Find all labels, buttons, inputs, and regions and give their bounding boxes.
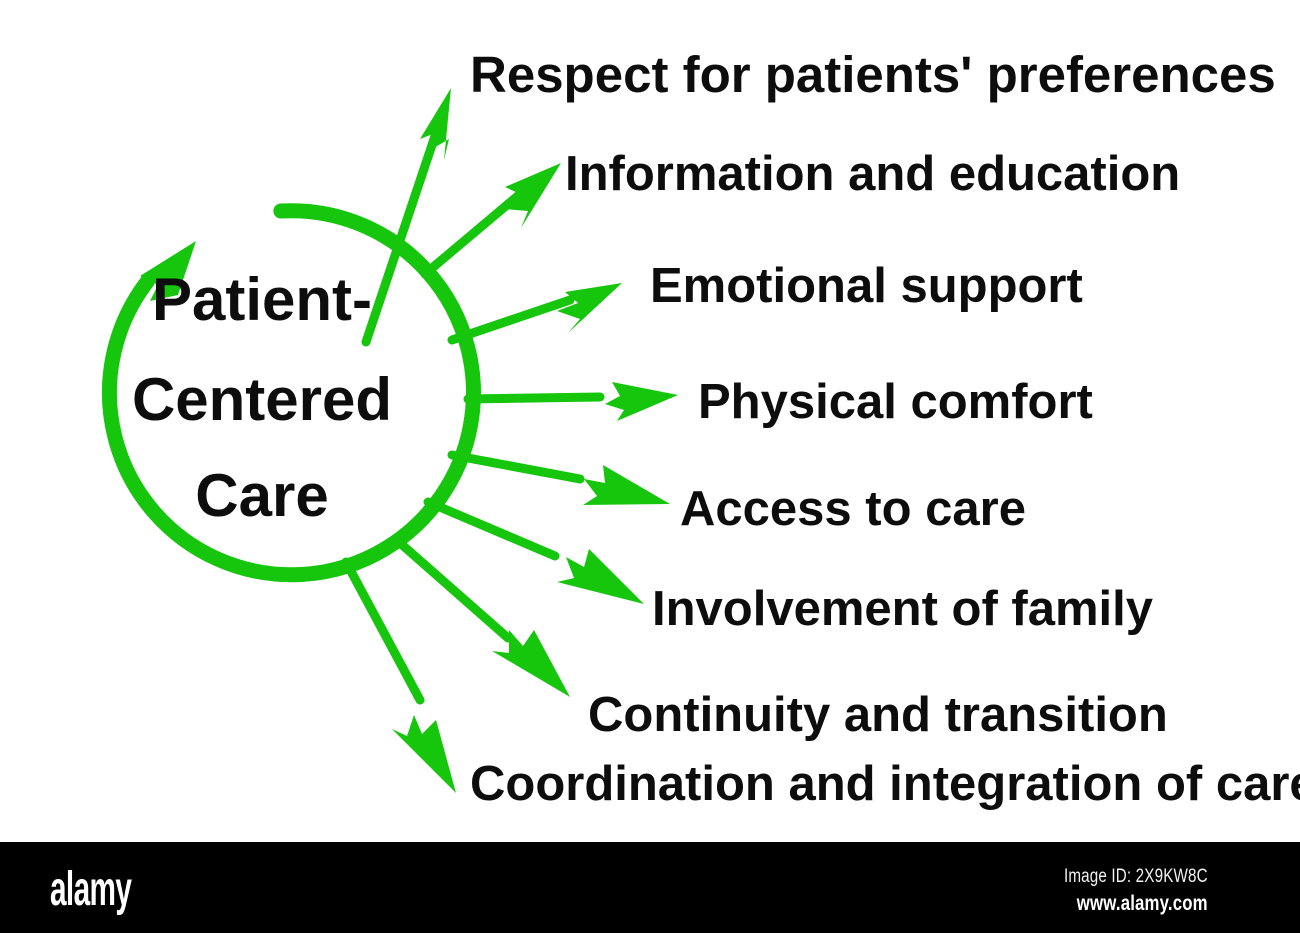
spoke-label-continuity: Continuity and transition [588,688,1168,742]
arrow-family [428,502,644,604]
arrow-emotional [452,283,622,340]
spoke-label-information: Information and education [565,147,1180,201]
footer-meta: Image ID: 2X9KW8C www.alamy.com [1028,864,1208,918]
arrow-respect [366,88,451,342]
diagram-canvas: Patient- Centered Care [0,0,1300,933]
arrow-physical [468,382,678,421]
arrow-coordination [346,562,456,793]
center-label-line-2: Centered [132,366,392,433]
arrow-continuity [400,543,570,697]
arrow-information [425,163,561,274]
center-label-line-1: Patient- [152,266,372,333]
arrow-access [452,455,670,505]
spoke-label-family: Involvement of family [652,582,1153,636]
spoke-label-coordination: Coordination and integration of care [470,757,1300,811]
center-label-line-3: Care [195,462,328,529]
spoke-label-emotional: Emotional support [650,259,1083,313]
alamy-url-text: www.alamy.com [1064,890,1208,918]
image-id-text: Image ID: 2X9KW8C [1064,864,1208,890]
spoke-label-respect: Respect for patients' preferences [470,46,1276,103]
watermark-footer: alamy Image ID: 2X9KW8C www.alamy.com [0,842,1300,933]
spoke-label-access: Access to care [680,482,1026,536]
alamy-logo: alamy [50,866,131,914]
spoke-label-physical: Physical comfort [698,375,1093,429]
radial-diagram: Patient- Centered Care [0,0,1300,842]
